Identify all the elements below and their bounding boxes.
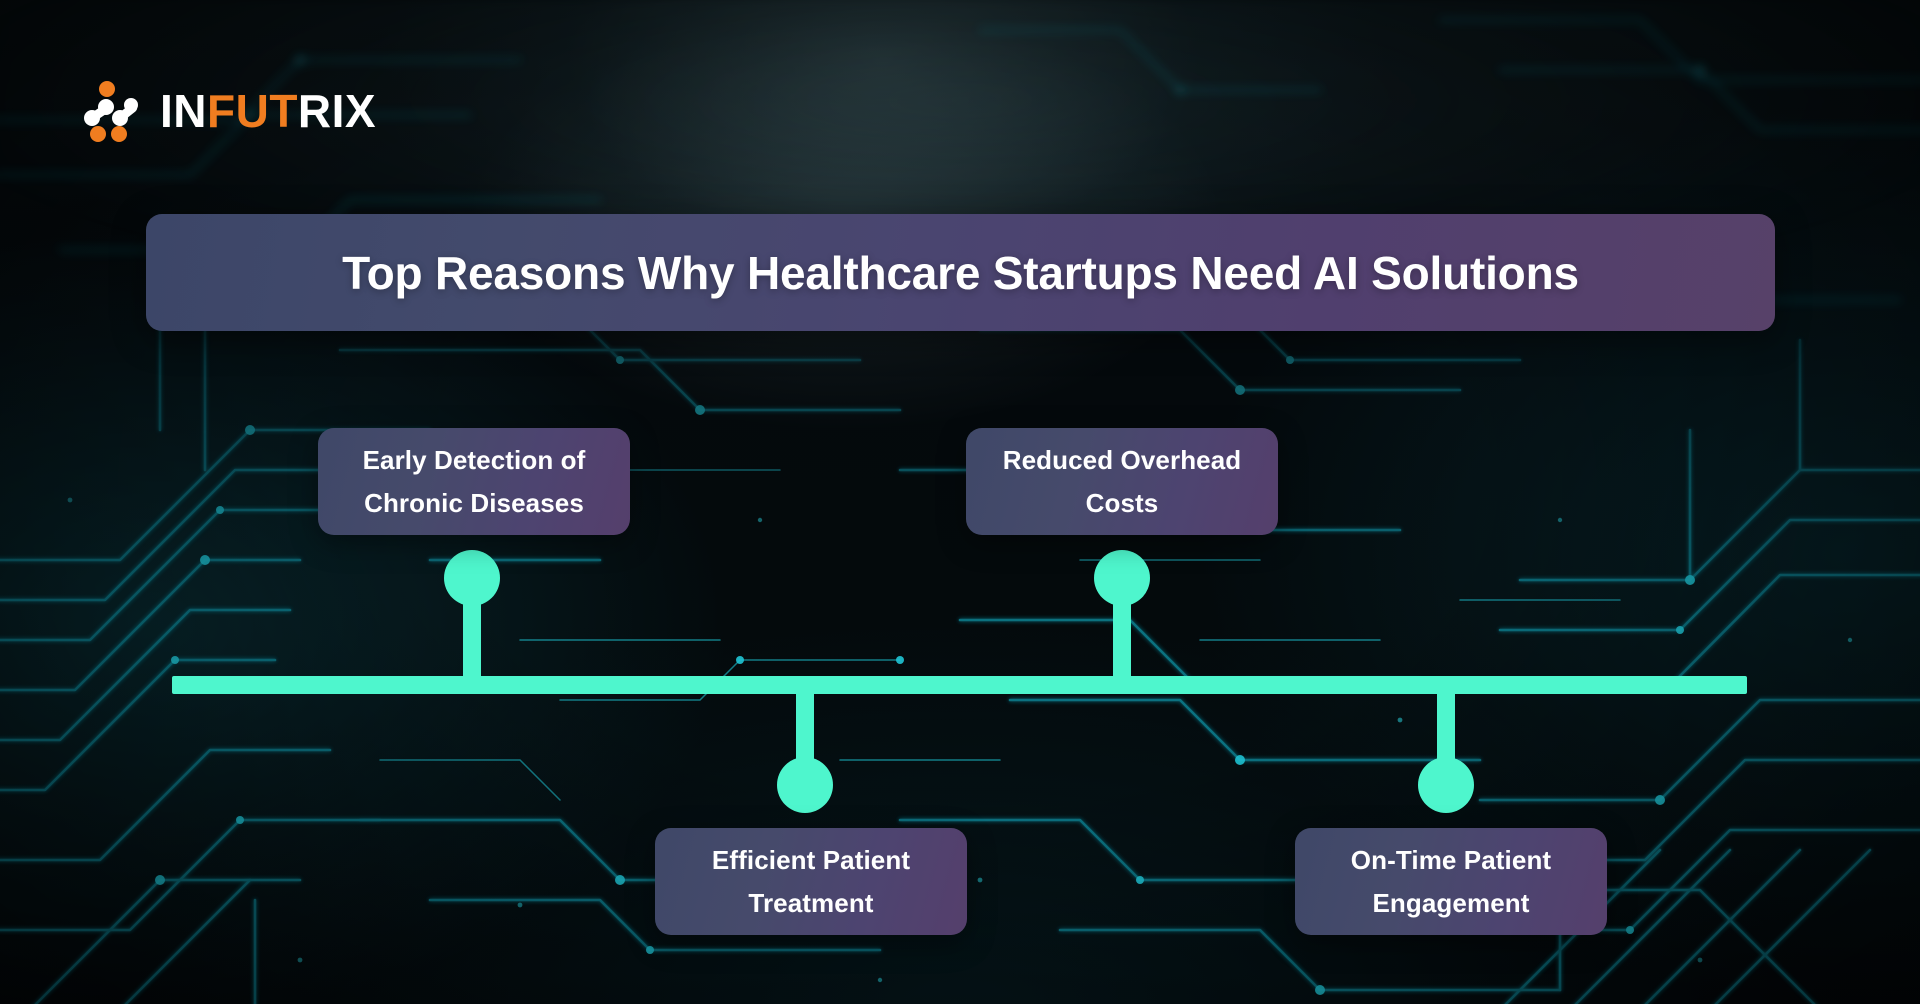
timeline-axis-line bbox=[172, 676, 1747, 694]
timeline-card-label-line1: Early Detection of bbox=[363, 439, 586, 482]
timeline-card-early-detection[interactable]: Early Detection ofChronic Diseases bbox=[318, 428, 630, 535]
timeline-card-label-line2: Chronic Diseases bbox=[363, 482, 586, 525]
timeline-node-dot[interactable] bbox=[1418, 757, 1474, 813]
brand-name-part2: FUT bbox=[207, 85, 298, 137]
timeline-card-label-line2: Costs bbox=[1003, 482, 1242, 525]
timeline-card-label-line2: Treatment bbox=[712, 882, 910, 925]
page-title-banner: Top Reasons Why Healthcare Startups Need… bbox=[146, 214, 1775, 331]
timeline-node-dot[interactable] bbox=[1094, 550, 1150, 606]
timeline-card-efficient-treatment[interactable]: Efficient PatientTreatment bbox=[655, 828, 967, 935]
timeline-card-label-line2: Engagement bbox=[1351, 882, 1551, 925]
page-title: Top Reasons Why Healthcare Startups Need… bbox=[342, 246, 1579, 300]
brand-wordmark: INFUTRIX bbox=[160, 88, 376, 134]
timeline-card-label: Efficient PatientTreatment bbox=[712, 839, 910, 925]
brand-name-part1: IN bbox=[160, 85, 207, 137]
timeline-node-dot[interactable] bbox=[444, 550, 500, 606]
timeline-card-reduced-overhead[interactable]: Reduced OverheadCosts bbox=[966, 428, 1278, 535]
timeline-node-dot[interactable] bbox=[777, 757, 833, 813]
timeline-card-patient-engagement[interactable]: On-Time PatientEngagement bbox=[1295, 828, 1607, 935]
timeline-card-label: Early Detection ofChronic Diseases bbox=[363, 439, 586, 525]
timeline-card-label-line1: Reduced Overhead bbox=[1003, 439, 1242, 482]
timeline-card-label-line1: On-Time Patient bbox=[1351, 839, 1551, 882]
infographic-canvas: INFUTRIX Top Reasons Why Healthcare Star… bbox=[0, 0, 1920, 1004]
timeline-card-label: On-Time PatientEngagement bbox=[1351, 839, 1551, 925]
timeline-card-label-line1: Efficient Patient bbox=[712, 839, 910, 882]
brand-name-part3: RIX bbox=[298, 85, 376, 137]
brand-logo[interactable]: INFUTRIX bbox=[74, 78, 376, 144]
timeline-card-label: Reduced OverheadCosts bbox=[1003, 439, 1242, 525]
molecule-nodes-icon bbox=[74, 78, 140, 144]
